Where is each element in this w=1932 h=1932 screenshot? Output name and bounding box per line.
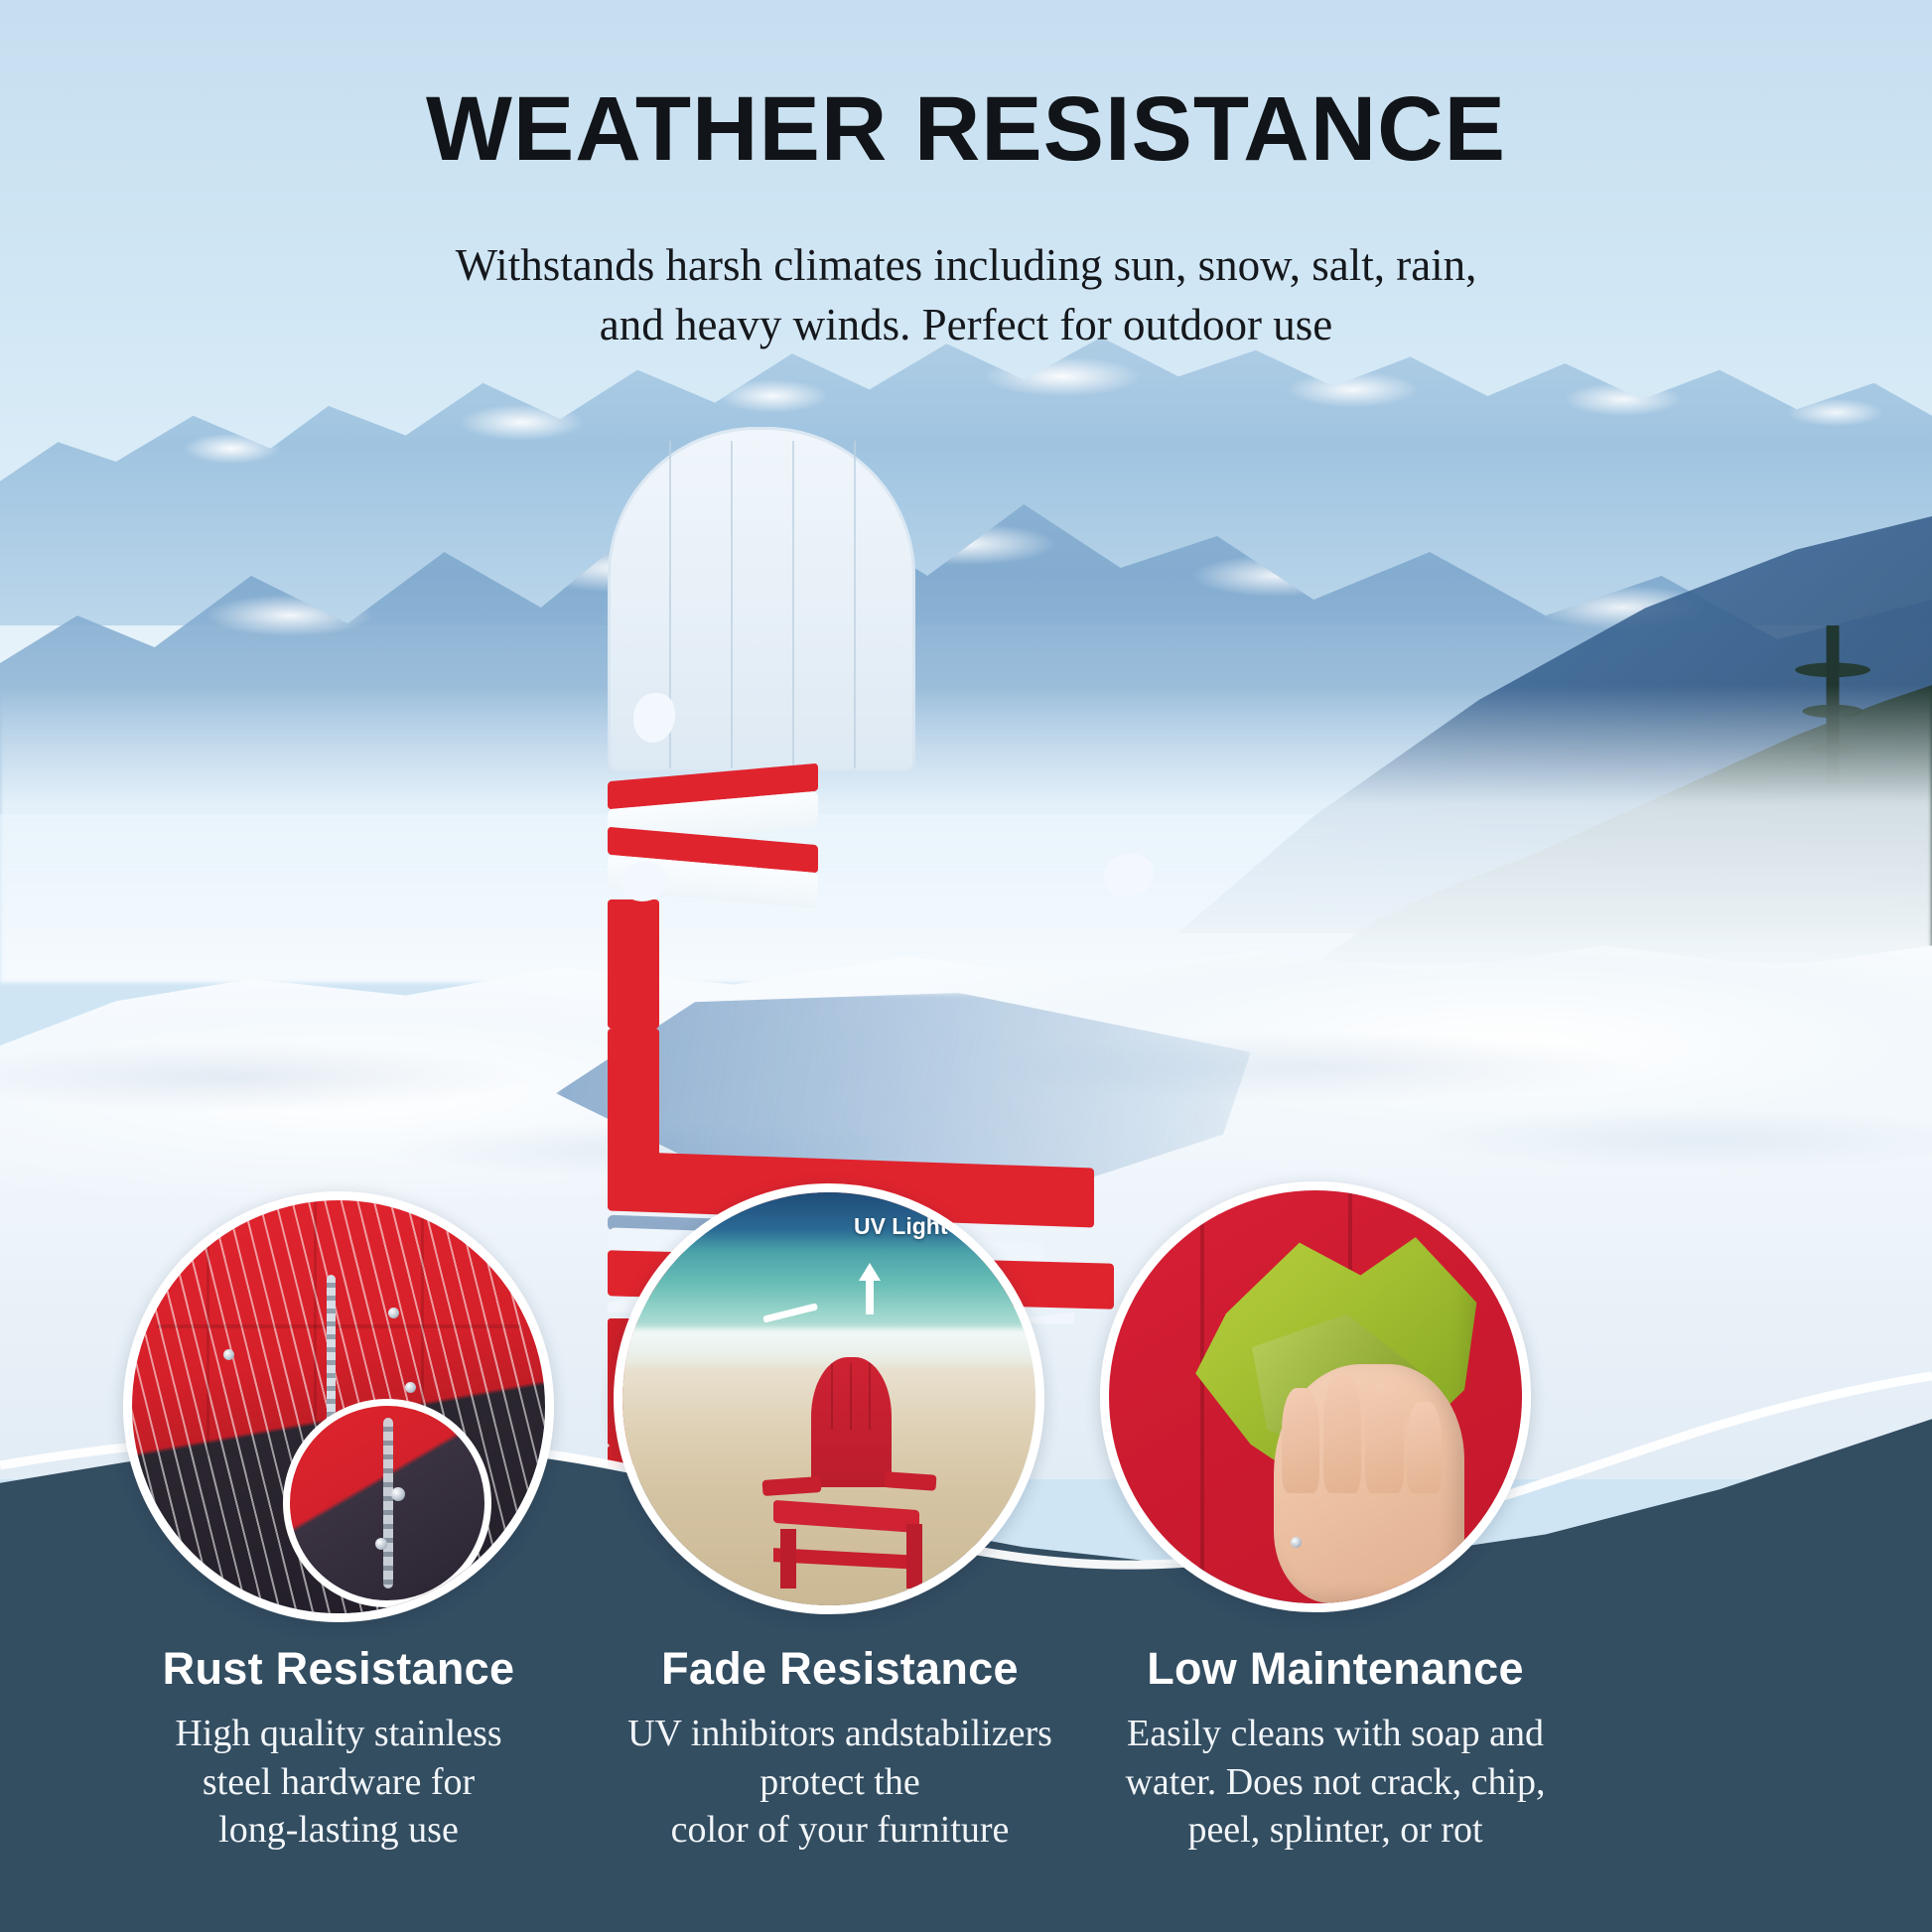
chair-slat xyxy=(421,1200,424,1432)
beach-chair-left-leg xyxy=(780,1529,796,1589)
feature-image-rust-resistance xyxy=(123,1191,554,1622)
feature-body-line: peel, splinter, or rot xyxy=(1077,1806,1593,1855)
feature-body-line: High quality stainless xyxy=(80,1710,597,1758)
beach-chair-slat xyxy=(850,1363,852,1431)
feature-body-line: long-lasting use xyxy=(80,1806,597,1855)
snow-patch xyxy=(1104,854,1154,897)
beach-chair-right-arm xyxy=(884,1471,936,1491)
chair-slat xyxy=(207,1200,209,1456)
finger xyxy=(1282,1388,1319,1493)
chain-detail-inset xyxy=(283,1399,491,1607)
chair-back-slat xyxy=(792,441,794,768)
feature-title-low-maintenance: Low Maintenance xyxy=(1077,1643,1593,1695)
feature-body-line: Easily cleans with soap and xyxy=(1077,1710,1593,1758)
feature-title-fade-resistance: Fade Resistance xyxy=(582,1643,1098,1695)
feature-title-rust-resistance: Rust Resistance xyxy=(80,1643,597,1695)
cleaning-photo xyxy=(1109,1190,1522,1603)
page-subtitle: Withstands harsh climates including sun,… xyxy=(278,236,1654,355)
feature-body-rust-resistance: High quality stainless steel hardware fo… xyxy=(80,1710,597,1855)
infographic-poster: WEATHER RESISTANCE Withstands harsh clim… xyxy=(0,0,1932,1932)
feature-body-fade-resistance: UV inhibitors andstabilizers protect the… xyxy=(582,1710,1098,1855)
finger xyxy=(1365,1383,1403,1493)
beach-chair-slat xyxy=(869,1363,871,1431)
finger xyxy=(1323,1373,1361,1493)
uv-arrow-icon xyxy=(850,1259,890,1316)
chair-rail xyxy=(157,1324,520,1328)
page-title: WEATHER RESISTANCE xyxy=(0,77,1932,182)
stainless-chain-closeup xyxy=(383,1418,393,1588)
beach-chair-right-leg xyxy=(906,1524,922,1588)
feature-image-low-maintenance xyxy=(1100,1181,1531,1612)
beach-chair-left-arm xyxy=(762,1475,822,1495)
uv-light-label: UV Light xyxy=(854,1213,948,1240)
chair-slat xyxy=(314,1200,317,1440)
chair-back-slat xyxy=(731,441,733,768)
subtitle-line-2: and heavy winds. Perfect for outdoor use xyxy=(278,296,1654,355)
beach-photo: UV Light xyxy=(622,1192,1035,1605)
chair-right-arm-support xyxy=(608,1029,659,1160)
feature-body-line: water. Does not crack, chip, xyxy=(1077,1758,1593,1807)
panel-seam xyxy=(1200,1190,1204,1603)
screw-icon xyxy=(391,1487,405,1501)
chair-left-arm-support xyxy=(608,899,659,1029)
screw-icon xyxy=(405,1382,416,1393)
screw-icon xyxy=(388,1308,399,1318)
chair-back-slat xyxy=(854,441,856,768)
hero-adirondack-chair xyxy=(608,427,1283,1023)
screw-icon xyxy=(223,1349,234,1360)
subtitle-line-1: Withstands harsh climates including sun,… xyxy=(278,236,1654,296)
finger xyxy=(1407,1402,1441,1493)
hand xyxy=(1274,1364,1463,1603)
beach-chair-back xyxy=(811,1357,891,1486)
feature-image-fade-resistance: UV Light xyxy=(614,1183,1044,1614)
uv-ray-icon xyxy=(762,1300,822,1325)
feature-body-line: UV inhibitors andstabilizers xyxy=(582,1710,1098,1758)
feature-body-line: color of your furniture xyxy=(582,1806,1098,1855)
snow-patch xyxy=(621,862,667,901)
feature-body-low-maintenance: Easily cleans with soap and water. Does … xyxy=(1077,1710,1593,1855)
beach-chair-slat xyxy=(831,1363,833,1431)
feature-body-line: protect the xyxy=(582,1758,1098,1807)
beach-chair-illustration xyxy=(762,1357,936,1588)
feature-body-line: steel hardware for xyxy=(80,1758,597,1807)
